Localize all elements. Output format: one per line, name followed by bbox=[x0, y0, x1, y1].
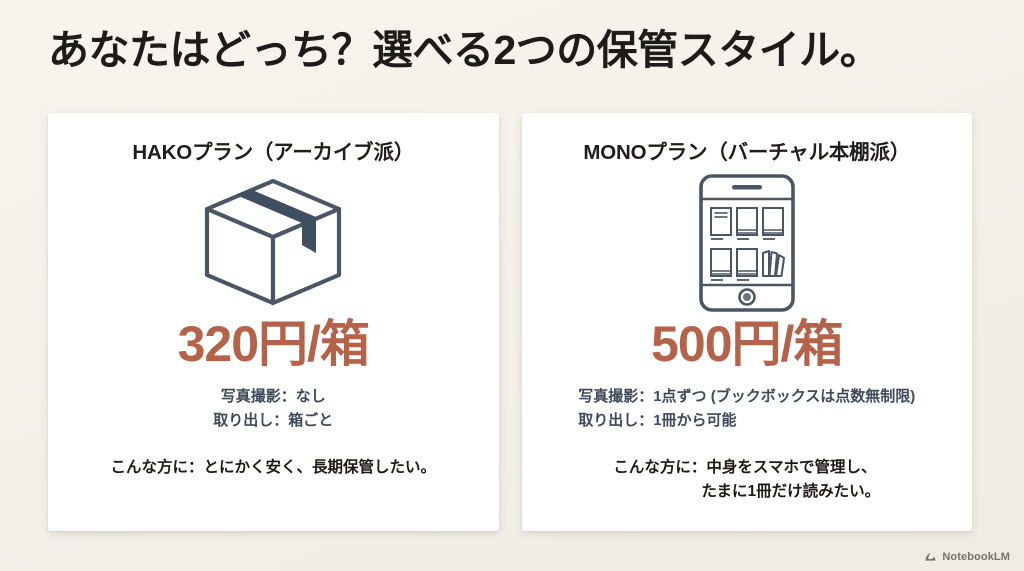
spec-photo: 写真撮影：なし bbox=[213, 385, 333, 409]
spec-retrieval: 取り出し：箱ごと bbox=[213, 409, 333, 433]
spec-retrieval: 取り出し：1冊から可能 bbox=[578, 409, 915, 433]
plan-card-hako-price: 320円/箱 bbox=[178, 319, 369, 369]
plan-card-mono-title: MONOプラン（バーチャル本棚派） bbox=[583, 135, 910, 165]
notebooklm-logo-icon bbox=[924, 550, 937, 563]
plan-card-mono-recommendation: こんな方に：中身をスマホで管理し、 たまに1冊だけ読みたい。 bbox=[613, 456, 880, 506]
plan-card-hako-title: HAKOプラン（アーカイブ派） bbox=[132, 135, 414, 165]
plan-card-hako[interactable]: HAKOプラン（アーカイブ派） 320円/箱 写真撮影：なし bbox=[48, 113, 499, 531]
plan-card-hako-specs: 写真撮影：なし 取り出し：箱ごと bbox=[213, 385, 333, 434]
notebooklm-watermark-label: NotebookLM bbox=[942, 551, 1010, 563]
page-title: あなたはどっち？選べる2つの保管スタイル。 bbox=[48, 24, 978, 76]
plan-card-hako-recommendation: こんな方に：とにかく安く、長期保管したい。 bbox=[110, 456, 436, 481]
smartphone-bookshelf-icon bbox=[698, 169, 796, 317]
recommendation-line: たまに1冊だけ読みたい。 bbox=[613, 480, 880, 505]
plan-card-mono-specs: 写真撮影：1点ずつ (ブックボックスは点数無制限) 取り出し：1冊から可能 bbox=[578, 385, 915, 434]
recommendation-line: こんな方に：とにかく安く、長期保管したい。 bbox=[110, 456, 436, 481]
plan-card-mono[interactable]: MONOプラン（バーチャル本棚派） bbox=[522, 113, 973, 531]
notebooklm-watermark: NotebookLM bbox=[924, 550, 1010, 563]
plan-cards-row: HAKOプラン（アーカイブ派） 320円/箱 写真撮影：なし bbox=[48, 113, 972, 531]
slide-root: あなたはどっち？選べる2つの保管スタイル。 HAKOプラン（アーカイブ派） bbox=[0, 0, 1024, 571]
recommendation-line: こんな方に：中身をスマホで管理し、 bbox=[613, 456, 880, 481]
cardboard-box-icon bbox=[198, 169, 348, 317]
plan-card-mono-price: 500円/箱 bbox=[651, 319, 842, 369]
spec-photo: 写真撮影：1点ずつ (ブックボックスは点数無制限) bbox=[578, 385, 915, 409]
